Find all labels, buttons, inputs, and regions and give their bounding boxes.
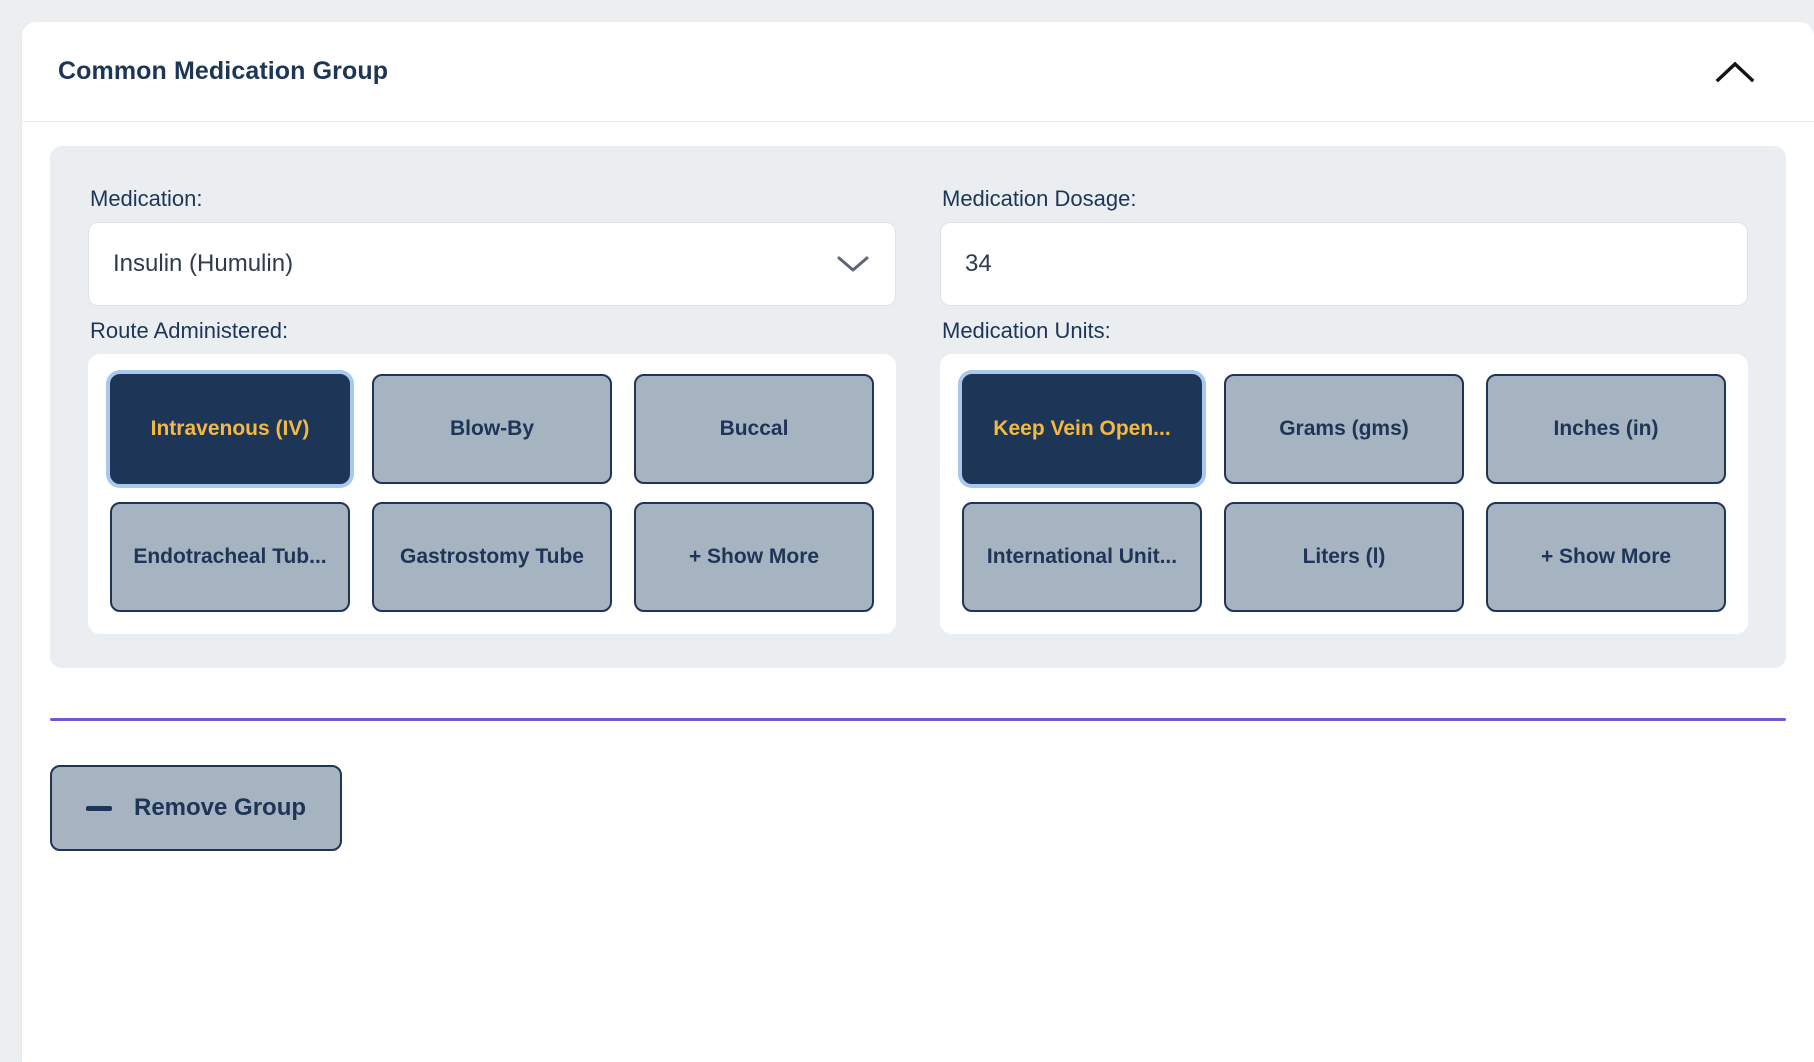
card-header: Common Medication Group [22,22,1814,122]
collapse-toggle-button[interactable] [1706,43,1764,101]
dosage-field: Medication Dosage: [940,174,1748,306]
units-option-show-more[interactable]: + Show More [1486,502,1726,612]
medication-select[interactable]: Insulin (Humulin) [88,222,896,306]
route-label: Route Administered: [90,318,896,344]
route-option-blow-by[interactable]: Blow-By [372,374,612,484]
dosage-label: Medication Dosage: [942,186,1748,212]
units-options-card: Keep Vein Open... Grams (gms) Inches (in… [940,354,1748,634]
units-option-liters[interactable]: Liters (l) [1224,502,1464,612]
medication-group-card: Common Medication Group Medication: Insu… [22,22,1814,1062]
dosage-input[interactable] [940,222,1748,306]
app-screen: Common Medication Group Medication: Insu… [0,0,1814,1040]
route-option-gastrostomy-tube[interactable]: Gastrostomy Tube [372,502,612,612]
medication-select-wrap: Insulin (Humulin) [88,222,896,306]
card-footer: Remove Group [22,721,1814,891]
units-option-keep-vein-open[interactable]: Keep Vein Open... [962,374,1202,484]
units-option-grams[interactable]: Grams (gms) [1224,374,1464,484]
units-field: Medication Units: Keep Vein Open... Gram… [940,306,1748,634]
remove-group-button[interactable]: Remove Group [50,765,342,851]
route-options-grid: Intravenous (IV) Blow-By Buccal Endotrac… [110,374,874,612]
units-option-inches[interactable]: Inches (in) [1486,374,1726,484]
chevron-up-icon [1715,60,1755,84]
route-option-show-more[interactable]: + Show More [634,502,874,612]
medication-select-value: Insulin (Humulin) [113,250,293,278]
units-options-grid: Keep Vein Open... Grams (gms) Inches (in… [962,374,1726,612]
route-option-buccal[interactable]: Buccal [634,374,874,484]
route-option-endotracheal-tube[interactable]: Endotracheal Tub... [110,502,350,612]
remove-group-label: Remove Group [134,794,306,822]
route-options-card: Intravenous (IV) Blow-By Buccal Endotrac… [88,354,896,634]
page-title: Common Medication Group [58,57,388,86]
units-label: Medication Units: [942,318,1748,344]
minus-icon [86,806,112,811]
route-option-intravenous[interactable]: Intravenous (IV) [110,374,350,484]
medication-fields-panel: Medication: Insulin (Humulin) [50,146,1786,668]
units-option-international-units[interactable]: International Unit... [962,502,1202,612]
fields-grid: Medication: Insulin (Humulin) [88,174,1748,634]
medication-label: Medication: [90,186,896,212]
route-field: Route Administered: Intravenous (IV) Blo… [88,306,896,634]
medication-field: Medication: Insulin (Humulin) [88,174,896,306]
